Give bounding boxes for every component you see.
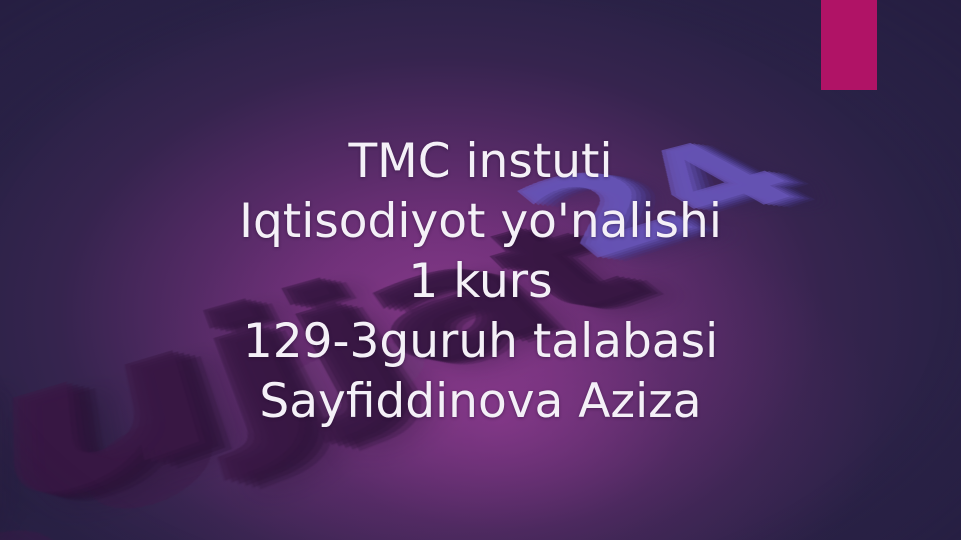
title-line-4: 129-3guruh talabasi <box>24 312 937 372</box>
presentation-slide: Hujjat 24 TMC instuti Iqtisodiyot yo'nal… <box>0 0 961 540</box>
title-line-3: 1 kurs <box>24 252 937 312</box>
slide-title-block: TMC instuti Iqtisodiyot yo'nalishi 1 kur… <box>0 132 961 432</box>
title-line-5: Sayfiddinova Aziza <box>24 372 937 432</box>
accent-rectangle <box>821 0 877 90</box>
title-line-2: Iqtisodiyot yo'nalishi <box>24 192 937 252</box>
title-line-1: TMC instuti <box>24 132 937 192</box>
